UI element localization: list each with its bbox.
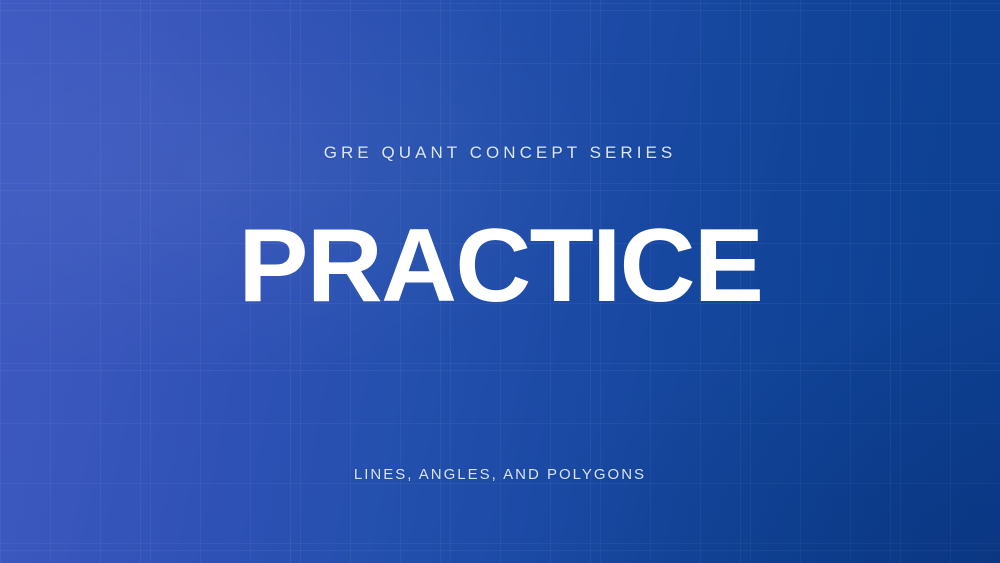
topic-subtitle: LINES, ANGLES, AND POLYGONS [354, 467, 646, 482]
title-slide: GRE QUANT CONCEPT SERIES PRACTICE LINES,… [0, 0, 1000, 563]
series-eyebrow-label: GRE QUANT CONCEPT SERIES [324, 144, 677, 161]
page-title: PRACTICE [238, 224, 762, 309]
slide-content: GRE QUANT CONCEPT SERIES PRACTICE LINES,… [0, 0, 1000, 563]
